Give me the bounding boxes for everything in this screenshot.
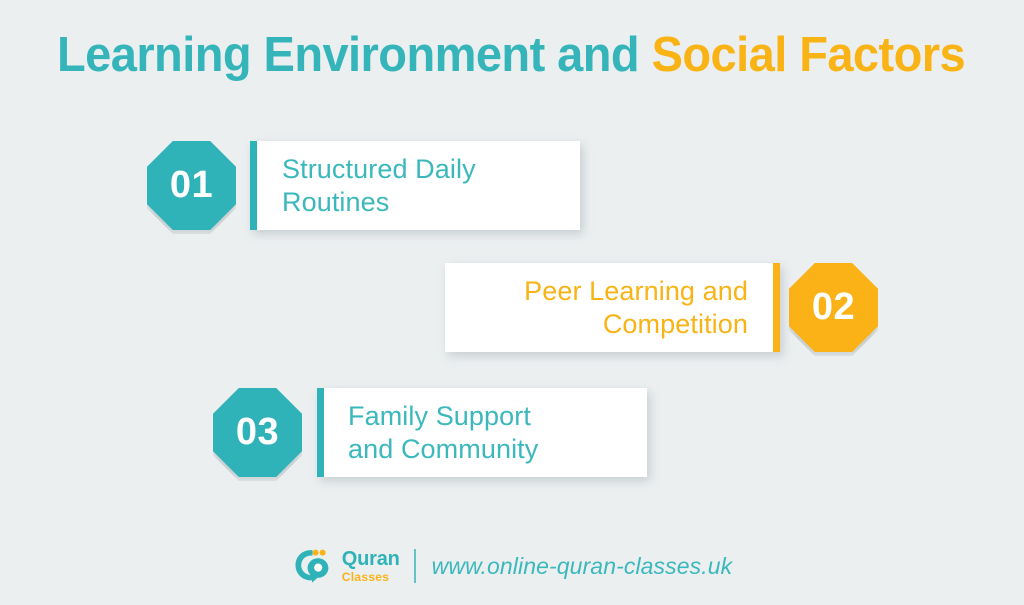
item-label: Peer Learning and Competition <box>524 275 780 341</box>
website-url: www.online-quran-classes.uk <box>432 553 733 580</box>
page-title-primary: Learning Environment and <box>57 28 652 82</box>
item-card: Structured Daily Routines <box>250 141 580 230</box>
item-label: Family Support and Community <box>317 400 538 466</box>
step-number-badge: 02 <box>789 263 878 352</box>
item-accent-bar <box>250 141 257 230</box>
item-card: Peer Learning and Competition <box>445 263 780 352</box>
brand-wordmark: Quran Classes <box>342 549 400 583</box>
brand-name-primary: Quran <box>342 549 400 569</box>
step-number: 02 <box>812 286 855 329</box>
footer: Quran Classes www.online-quran-classes.u… <box>0 546 1024 586</box>
brand-lockup: Quran Classes <box>292 546 400 586</box>
item-accent-bar <box>773 263 780 352</box>
step-number: 01 <box>170 164 213 207</box>
infographic-slide: Learning Environment and Social Factors … <box>0 0 1024 605</box>
step-number-badge: 03 <box>213 388 302 477</box>
brand-name-secondary: Classes <box>342 571 389 583</box>
page-title-accent: Social Factors <box>652 28 966 82</box>
item-label: Structured Daily Routines <box>250 153 476 219</box>
item-accent-bar <box>317 388 324 477</box>
step-number: 03 <box>236 411 279 454</box>
quran-classes-logo-icon <box>292 546 336 586</box>
step-number-badge: 01 <box>147 141 236 230</box>
item-card: Family Support and Community <box>317 388 647 477</box>
footer-divider <box>414 549 416 583</box>
page-title: Learning Environment and Social Factors <box>57 24 965 86</box>
